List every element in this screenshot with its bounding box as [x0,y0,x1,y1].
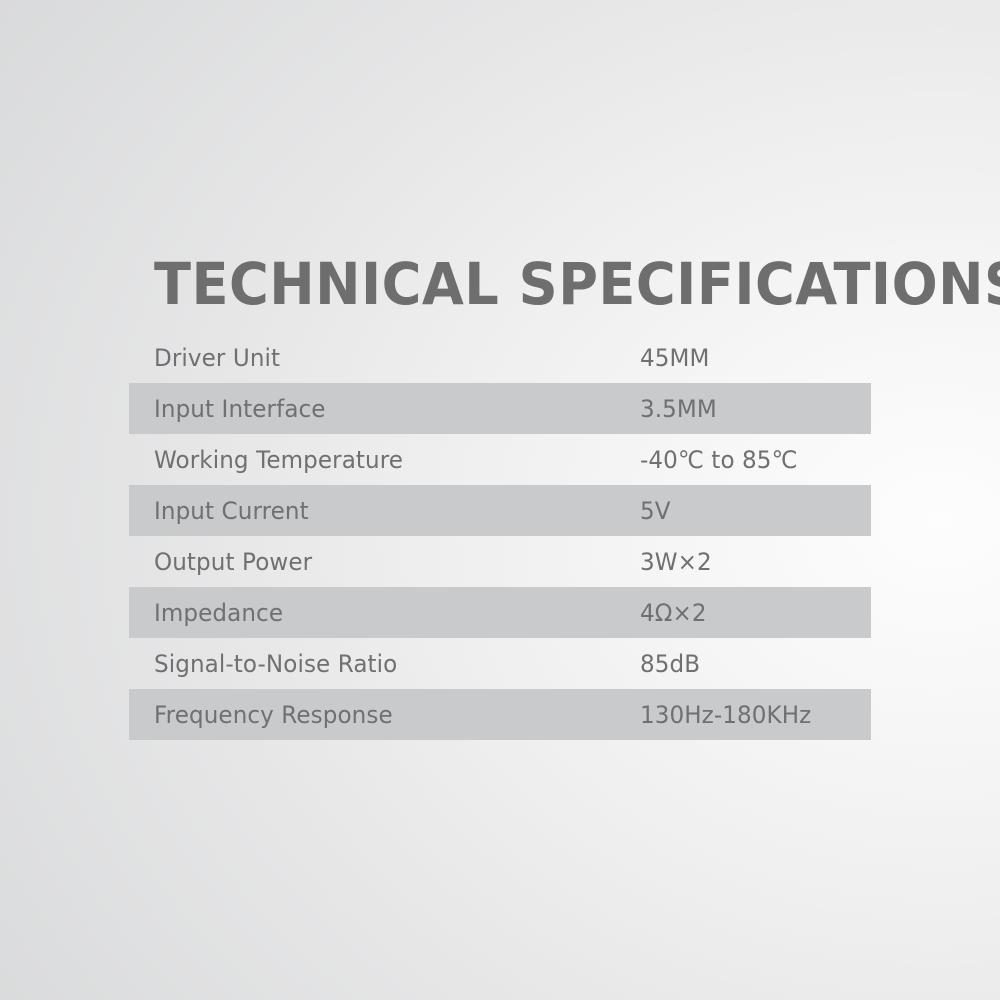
spec-label: Frequency Response [154,701,393,729]
spec-label: Output Power [154,548,312,576]
spec-value: 5V [640,497,671,525]
table-row: Output Power 3W×2 [129,536,871,587]
spec-value: 85dB [640,650,700,678]
specifications-table: Driver Unit 45MM Input Interface 3.5MM W… [129,332,871,740]
spec-value: 3W×2 [640,548,712,576]
table-row: Input Current 5V [129,485,871,536]
spec-value: 3.5MM [640,395,717,423]
spec-value: -40℃ to 85℃ [640,446,798,474]
spec-label: Working Temperature [154,446,403,474]
spec-label: Signal-to-Noise Ratio [154,650,397,678]
spec-label: Input Interface [154,395,326,423]
spec-label: Impedance [154,599,283,627]
spec-value: 130Hz-180KHz [640,701,811,729]
spec-value: 4Ω×2 [640,599,707,627]
spec-label: Driver Unit [154,344,280,372]
spec-value: 45MM [640,344,709,372]
table-row: Working Temperature -40℃ to 85℃ [129,434,871,485]
specifications-page: TECHNICAL SPECIFICATIONS Driver Unit 45M… [0,0,1000,1000]
table-row: Input Interface 3.5MM [129,383,871,434]
page-title: TECHNICAL SPECIFICATIONS [154,247,865,321]
table-row: Driver Unit 45MM [129,332,871,383]
table-row: Impedance 4Ω×2 [129,587,871,638]
spec-label: Input Current [154,497,309,525]
table-row: Frequency Response 130Hz-180KHz [129,689,871,740]
table-row: Signal-to-Noise Ratio 85dB [129,638,871,689]
